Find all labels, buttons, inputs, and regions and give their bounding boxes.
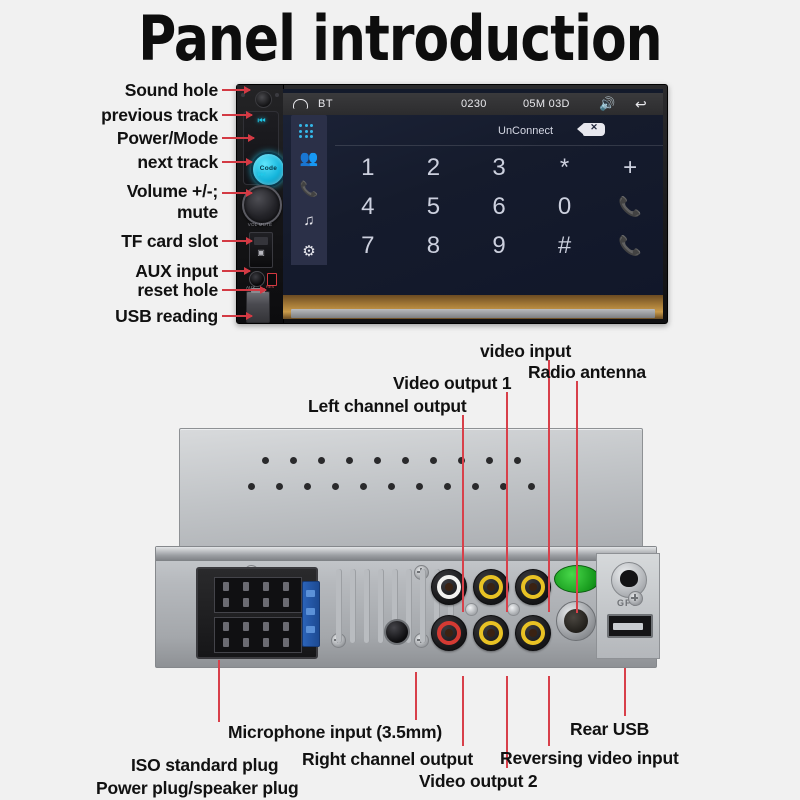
label-usb-reading: USB reading (8, 306, 218, 326)
leader-previous-track (222, 114, 252, 116)
leader-reset-hole (222, 289, 266, 291)
key-7[interactable]: 7 (335, 226, 401, 265)
sound-hole (255, 91, 272, 108)
music-glyph: ♫ (299, 211, 319, 231)
tf-card-icon: ▣ (250, 248, 272, 257)
page-title: Panel introduction (28, 2, 772, 75)
key-9[interactable]: 9 (466, 226, 532, 265)
touchscreen-display[interactable]: BT 0230 05M 03D 🔊 ↩ 👥 (283, 89, 663, 319)
label-video-output-2: Video output 2 (419, 771, 537, 791)
iso-standard-plug (196, 567, 318, 659)
volume-knob-caption: VOL MUTE (239, 222, 281, 227)
leader-video-output-1 (506, 392, 508, 612)
call-button[interactable]: 📞 (597, 188, 663, 227)
bt-source-label: BT (318, 98, 333, 110)
backspace-glyph: ✕ (583, 122, 605, 133)
label-right-channel-output: Right channel output (302, 749, 473, 769)
leader-volume (222, 192, 252, 194)
home-icon[interactable] (293, 99, 308, 109)
leader-usb-reading (222, 315, 252, 317)
dialpad-icon[interactable] (299, 121, 319, 138)
date-label: 05M 03D (523, 98, 570, 110)
leader-next-track (222, 161, 252, 163)
volume-icon[interactable]: 🔊 (599, 96, 615, 112)
panel-screw-icon (507, 603, 520, 616)
leader-left-channel-output (462, 415, 464, 612)
label-volume: Volume +/-; (18, 181, 218, 201)
rear-chassis: GPS (155, 546, 657, 668)
call-log-icon[interactable]: 📞 (299, 180, 319, 200)
page-root: Panel introduction ⏮ Code ⏭ VOL MUTE ▣ A… (0, 0, 800, 800)
leader-power-mode (222, 137, 254, 139)
contacts-glyph: 👥 (299, 149, 319, 169)
yellow-rca-reversing-video (515, 615, 551, 651)
key-0[interactable]: 0 (532, 188, 598, 227)
blue-connector (302, 581, 320, 647)
label-left-channel-output: Left channel output (308, 396, 467, 416)
rear-unit-device: GPS (155, 420, 655, 690)
yellow-rca-video-input (515, 569, 551, 605)
leader-microphone-input (415, 672, 417, 720)
key-1[interactable]: 1 (335, 149, 401, 188)
screen-sidebar: 👥 📞 ♫ ⚙ (291, 115, 327, 265)
label-radio-antenna: Radio antenna (528, 362, 646, 382)
track-button-group: ⏮ Code ⏭ (243, 111, 279, 185)
leader-sound-hole (222, 89, 250, 91)
key-star[interactable]: * (532, 149, 598, 188)
vent-hole-grid (242, 457, 532, 491)
hangup-button[interactable]: 📞 (597, 226, 663, 265)
label-power-speaker-plug: Power plug/speaker plug (96, 778, 299, 798)
iso-pin-block-bottom (214, 617, 302, 653)
leader-iso-standard-plug (218, 660, 220, 722)
rear-top-lip (156, 547, 656, 561)
key-4[interactable]: 4 (335, 188, 401, 227)
call-log-glyph: 📞 (299, 180, 319, 200)
front-unit-device: ⏮ Code ⏭ VOL MUTE ▣ AUX RES BT 0230 (236, 84, 668, 324)
rear-vent-plate (179, 428, 643, 552)
clock-label: 0230 (461, 98, 487, 110)
rca-jack-cluster (431, 561, 551, 657)
dialpad-grid (299, 124, 319, 138)
key-hash[interactable]: # (532, 226, 598, 265)
dial-keypad: 1 2 3 * + 4 5 6 0 📞 7 8 9 # 📞 (335, 149, 663, 265)
label-mute: mute (18, 202, 218, 222)
sensor-dot-icon (275, 93, 279, 97)
yellow-rca-video-output-1 (473, 569, 509, 605)
back-icon[interactable]: ↩ (635, 96, 647, 113)
yellow-rca-video-output-2 (473, 615, 509, 651)
key-3[interactable]: 3 (466, 149, 532, 188)
label-video-output-1: Video output 1 (393, 373, 511, 393)
bluetooth-dialer-screen: 👥 📞 ♫ ⚙ UnConnect ✕ (283, 115, 663, 295)
key-6[interactable]: 6 (466, 188, 532, 227)
label-video-input: video input (480, 341, 571, 361)
leader-tf-card-slot (222, 240, 252, 242)
next-track-button[interactable]: ⏭ (253, 170, 270, 179)
leader-radio-antenna (576, 381, 578, 613)
screen-bottom-trim (291, 309, 655, 318)
label-tf-card-slot: TF card slot (18, 231, 218, 251)
leader-reversing-video-input (548, 676, 550, 746)
key-plus[interactable]: + (597, 149, 663, 188)
keypad-divider (335, 145, 663, 146)
leader-rear-usb (624, 668, 626, 716)
leader-video-input (548, 360, 550, 612)
contacts-icon[interactable]: 👥 (299, 149, 319, 169)
leader-aux-input (222, 270, 250, 272)
label-rear-usb: Rear USB (570, 719, 649, 739)
label-aux-input: AUX input (18, 261, 218, 281)
red-rca-right-channel (431, 615, 467, 651)
status-bar: BT 0230 05M 03D 🔊 ↩ (283, 93, 663, 115)
label-next-track: next track (28, 152, 218, 172)
label-sound-hole: Sound hole (18, 80, 218, 100)
label-reset-hole: reset hole (18, 280, 218, 300)
chassis-screw-icon (628, 591, 643, 606)
label-iso-standard-plug: ISO standard plug (131, 755, 278, 775)
settings-icon[interactable]: ⚙ (299, 242, 319, 262)
key-8[interactable]: 8 (401, 226, 467, 265)
microphone-input-jack (384, 619, 410, 645)
settings-glyph: ⚙ (299, 242, 319, 262)
backspace-icon[interactable]: ✕ (583, 123, 605, 136)
previous-track-button[interactable]: ⏮ (253, 116, 270, 125)
iso-pin-block-top (214, 577, 302, 613)
panel-screw-icon (465, 603, 478, 616)
label-power-mode: Power/Mode (18, 128, 218, 148)
connection-status: UnConnect (498, 125, 553, 137)
rear-usb-port (607, 614, 653, 638)
leader-right-channel-output (462, 676, 464, 746)
label-reversing-video-input: Reversing video input (500, 748, 679, 768)
label-previous-track: previous track (8, 105, 218, 125)
label-microphone-input: Microphone input (3.5mm) (228, 722, 442, 742)
reset-caption: RES (266, 284, 274, 289)
key-5[interactable]: 5 (401, 188, 467, 227)
music-icon[interactable]: ♫ (299, 211, 319, 231)
key-2[interactable]: 2 (401, 149, 467, 188)
gps-usb-panel: GPS (596, 553, 660, 659)
